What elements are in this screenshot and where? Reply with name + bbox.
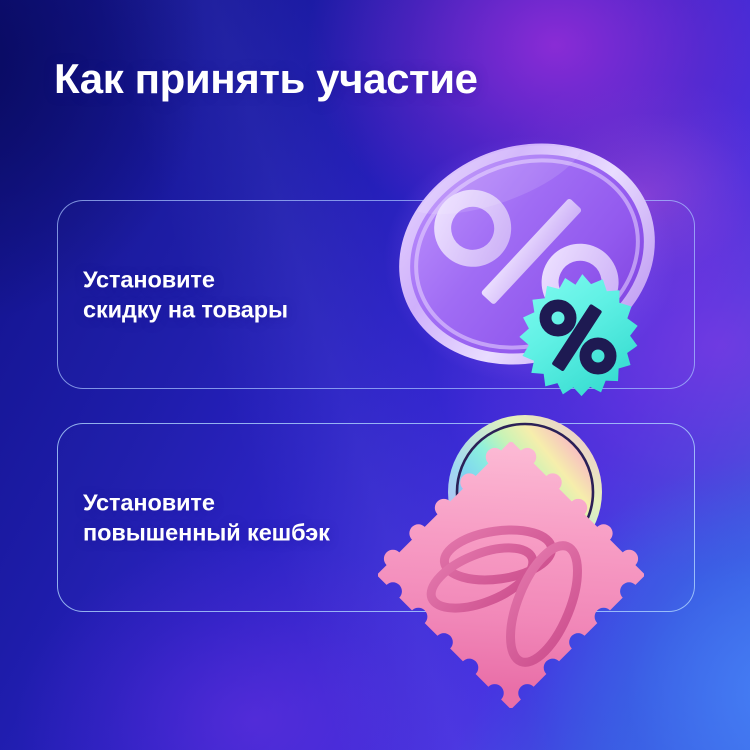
page-title: Как принять участие (54, 55, 478, 103)
promo-banner: Как принять участие Установите скидку на… (0, 0, 750, 750)
card-set-discount-label: Установите скидку на товары (83, 264, 288, 325)
card-set-discount[interactable]: Установите скидку на товары (57, 200, 695, 389)
card-set-cashback-label: Установите повышенный кешбэк (83, 487, 330, 548)
card-set-cashback[interactable]: Установите повышенный кешбэк (57, 423, 695, 612)
